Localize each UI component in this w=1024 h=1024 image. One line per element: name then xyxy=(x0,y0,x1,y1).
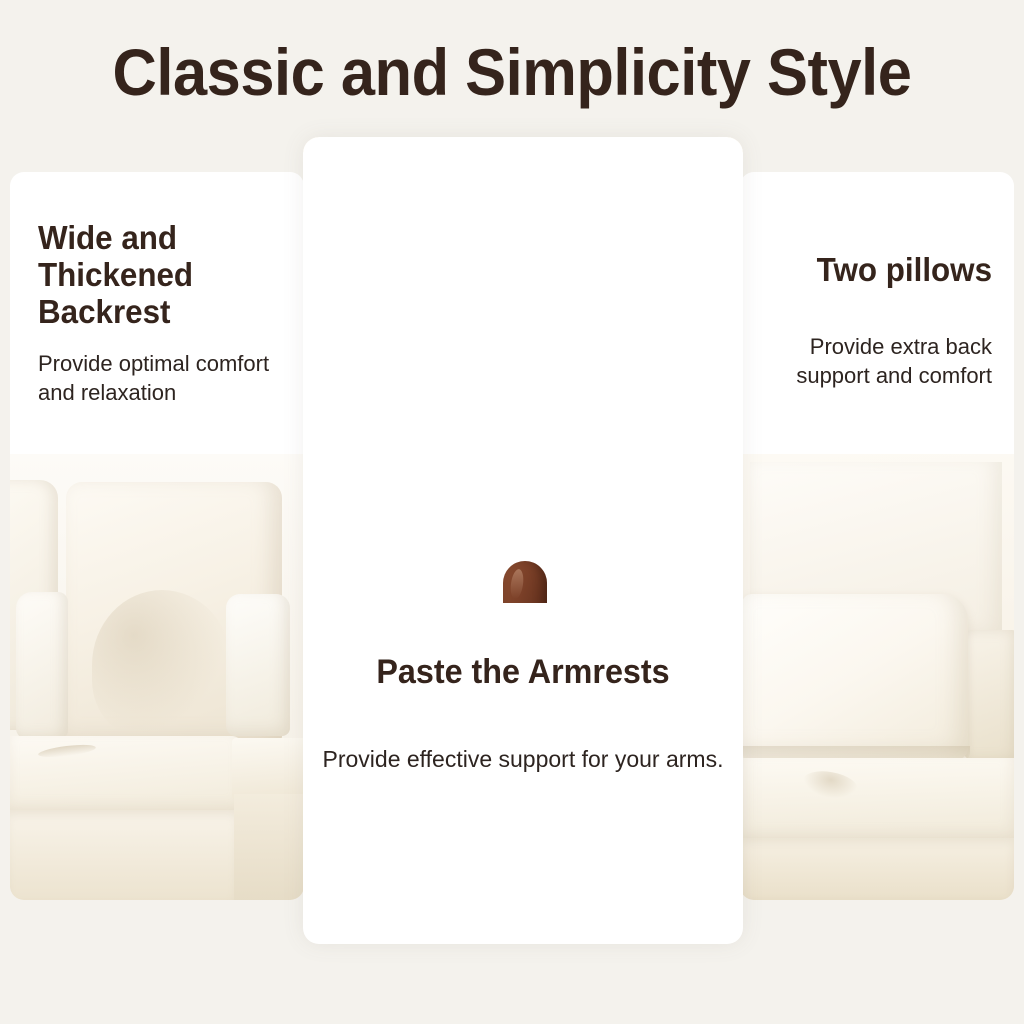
sofa-pillow-left xyxy=(16,592,68,740)
armrests-text-block: Paste the Armrests Provide effective sup… xyxy=(303,653,743,776)
sofa-pillow-secondary xyxy=(964,630,1014,760)
sofa-seat-cushion xyxy=(740,758,1014,844)
sofa-seat-cushion xyxy=(10,736,242,816)
armrests-heading: Paste the Armrests xyxy=(314,653,732,691)
backrest-photo xyxy=(10,454,304,900)
pillows-photo xyxy=(740,454,1014,900)
sofa-base xyxy=(740,838,1014,900)
armrest-photo xyxy=(303,137,743,603)
backrest-subtext: Provide optimal comfort and relaxation xyxy=(38,349,298,408)
feature-card-pillows: Two pillows Provide extra back support a… xyxy=(740,172,1014,900)
feature-card-backrest: Wide and Thickened Backrest Provide opti… xyxy=(10,172,304,900)
armrest-photo-inner xyxy=(303,137,743,603)
armrest-cushion xyxy=(303,324,743,481)
feature-card-armrests: Paste the Armrests Provide effective sup… xyxy=(303,137,743,944)
sofa-pillow-main xyxy=(742,594,968,760)
wooden-leg-highlight xyxy=(509,568,525,599)
backrest-heading: Wide and Thickened Backrest xyxy=(38,220,285,331)
wooden-leg-icon xyxy=(503,561,547,603)
armrests-subtext: Provide effective support for your arms. xyxy=(303,743,743,776)
pillows-subtext: Provide extra back support and comfort xyxy=(748,332,992,391)
sofa-pillow-right xyxy=(226,594,290,736)
page-title: Classic and Simplicity Style xyxy=(36,34,988,110)
sofa-base xyxy=(10,810,238,900)
backrest-text-block: Wide and Thickened Backrest Provide opti… xyxy=(38,220,298,407)
pillows-heading: Two pillows xyxy=(760,252,992,289)
sofa-seat-cushion-side xyxy=(232,738,304,800)
sofa-base-side xyxy=(234,794,304,900)
pillows-text-block: Two pillows Provide extra back support a… xyxy=(748,252,992,390)
